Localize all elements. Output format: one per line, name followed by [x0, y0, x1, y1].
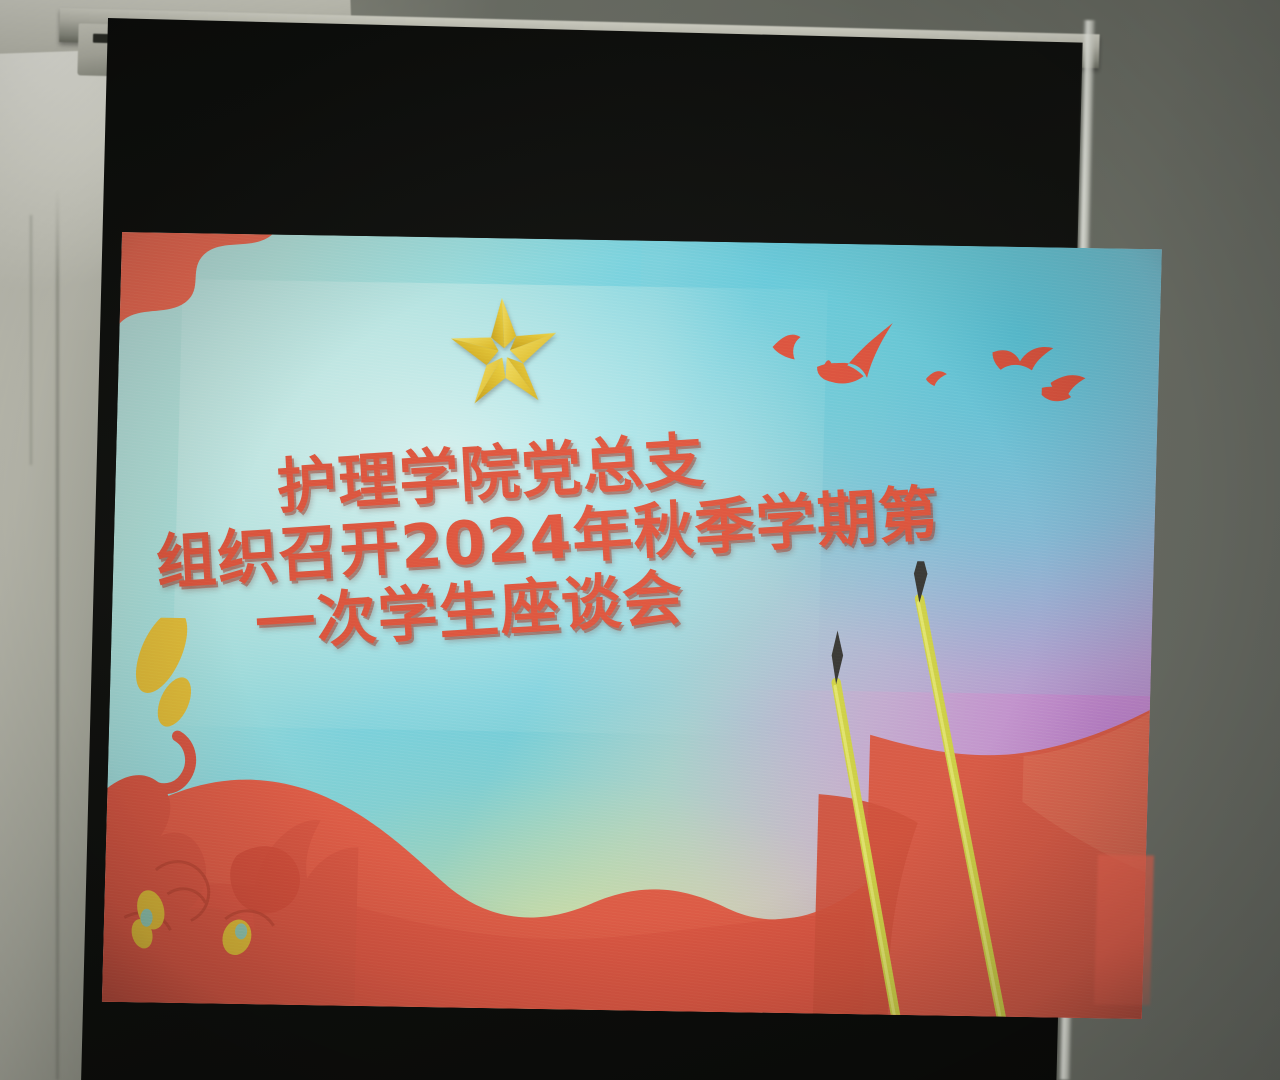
- projection-spill-on-wall: [1094, 855, 1154, 1006]
- wall-seam-secondary: [30, 215, 32, 465]
- photo-scene: 护理学院党总支 组织召开2024年秋季学期第 一次学生座谈会: [0, 0, 1280, 1080]
- slide-vignette: [102, 232, 1162, 1019]
- slide-background: 护理学院党总支 组织召开2024年秋季学期第 一次学生座谈会: [102, 232, 1162, 1019]
- wall-seam: [56, 190, 59, 1080]
- projected-slide: 护理学院党总支 组织召开2024年秋季学期第 一次学生座谈会: [102, 232, 1162, 1019]
